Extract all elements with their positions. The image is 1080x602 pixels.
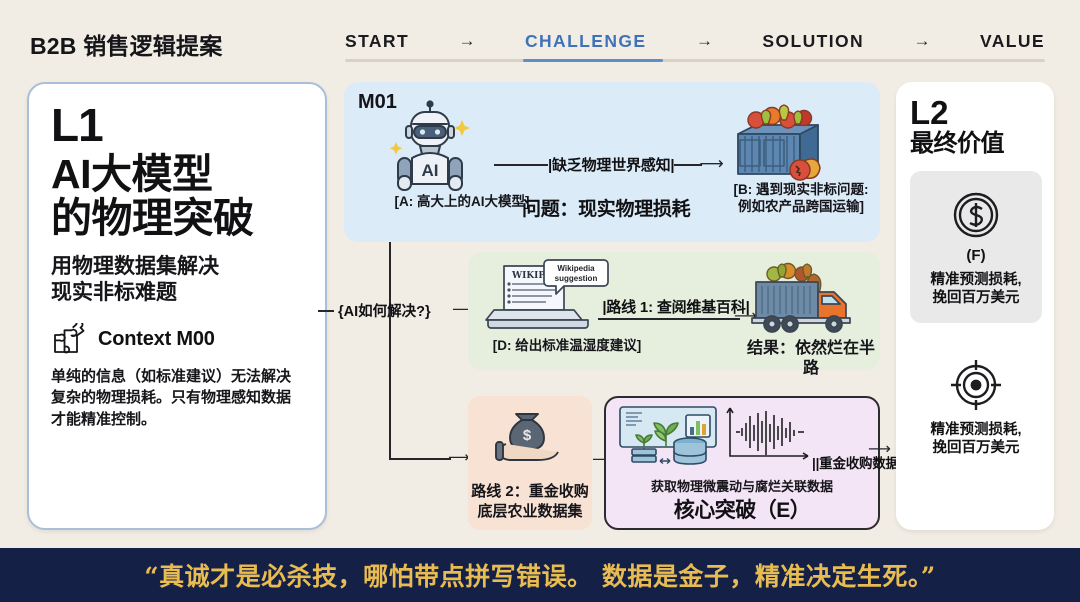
l1-subheading-line1: 用物理数据集解决	[51, 254, 303, 280]
arrow-right-icon: ⟶	[448, 450, 470, 465]
value-card-f-line1: 精准预测损耗,	[930, 271, 1021, 289]
value-card-target: 精准预测损耗, 挽回百万美元	[910, 331, 1042, 481]
step-challenge[interactable]: CHALLENGE	[525, 31, 647, 52]
puzzle-icon	[51, 323, 89, 357]
l1-heading-line1: AI大模型	[51, 152, 303, 196]
branch-stub-left	[318, 310, 334, 312]
step-arrow-icon: →	[459, 31, 476, 51]
svg-text:$: $	[523, 427, 532, 444]
value-card-f-code: (F)	[966, 247, 985, 264]
rotten-fruit-truck-icon	[746, 258, 876, 336]
l2-heading: 最终价值	[910, 131, 1042, 157]
node-a-caption: [A: 高大上的AI大模型]	[382, 194, 542, 211]
core-subtitle: 获取物理微震动与腐烂关联数据	[606, 476, 878, 495]
l1-subheading-line2: 现实非标难题	[51, 280, 303, 306]
m01-edge: |缺乏物理世界感知| ⟶	[494, 154, 724, 175]
right-value-card: L2 最终价值 (F) 精准预测损耗, 挽回百万美元	[896, 82, 1054, 530]
core-edge-label: ||重金收购数据||	[812, 452, 906, 472]
value-card-f-line2: 挽回百万美元	[930, 289, 1021, 307]
plant-data-dashboard-icon	[614, 405, 724, 469]
m01-edge-label: |缺乏物理世界感知|	[548, 154, 674, 175]
progress-indicator	[523, 59, 663, 62]
route1-edge-label: |路线 1: 查阅维基百科|	[602, 299, 749, 316]
waveform-chart-icon	[724, 406, 816, 464]
step-solution[interactable]: SOLUTION	[762, 31, 864, 52]
node-b-real-world: [B: 遇到现实非标问题: 例如农产品跨国运输]	[726, 94, 876, 216]
svg-text:Wikipedia: Wikipedia	[557, 264, 595, 273]
svg-text:AI: AI	[422, 161, 439, 180]
route2-caption-line1: 路线 2：重金收购	[471, 482, 589, 502]
footer-banner: “真诚才是必杀技，哪怕带点拼写错误。 数据是金子，精准决定生死。”	[0, 548, 1080, 602]
target-crosshair-icon	[947, 356, 1005, 414]
dollar-coin-icon	[948, 187, 1004, 243]
node-c-truck: 结果：依然烂在半路	[746, 258, 876, 379]
progress-steps: START → CHALLENGE → SOLUTION → VALUE	[345, 26, 1045, 56]
core-breakthrough-panel: ||重金收购数据|| 获取物理微震动与腐烂关联数据 核心突破（E）	[604, 396, 880, 530]
money-bag-hand-icon: $	[492, 410, 568, 472]
l1-body-text: 单纯的信息（如标准建议）无法解决复杂的物理损耗。只有物理感知数据才能精准控制。	[51, 366, 303, 431]
node-b-caption: [B: 遇到现实非标问题: 例如农产品跨国运输]	[726, 182, 876, 216]
branch-question-label: {AI如何解决?}	[338, 300, 431, 321]
core-title: 核心突破（E）	[606, 494, 878, 524]
step-start[interactable]: START	[345, 31, 409, 52]
branch-line-to-route2	[389, 458, 451, 460]
page-title: B2B 销售逻辑提案	[30, 27, 222, 61]
ai-robot-icon: AI	[382, 98, 542, 194]
context-row: Context M00	[51, 323, 303, 357]
svg-text:suggestion: suggestion	[555, 274, 598, 283]
route1-panel: WIKIPEDIA Wikipedia suggestion [D: 给出标准温…	[468, 252, 880, 370]
step-arrow-icon: →	[914, 31, 931, 51]
route1-edge-line	[598, 318, 740, 320]
banner-quote: “真诚才是必杀技，哪怕带点拼写错误。 数据是金子，精准决定生死。”	[144, 557, 935, 593]
left-overview-card: L1 AI大模型 的物理突破 用物理数据集解决 现实非标难题 Context M…	[27, 82, 327, 530]
l1-eyebrow: L1	[51, 104, 303, 148]
value-card-target-line2: 挽回百万美元	[930, 439, 1021, 457]
value-card-f: (F) 精准预测损耗, 挽回百万美元	[910, 171, 1042, 323]
context-label: Context M00	[98, 328, 215, 351]
node-c-caption: 结果：依然烂在半路	[746, 339, 876, 379]
progress-track	[345, 59, 1045, 62]
fruit-container-icon	[726, 94, 876, 182]
arrow-right-icon: ⟶	[868, 442, 891, 458]
route1-edge: |路线 1: 查阅维基百科|	[596, 296, 756, 317]
arrow-right-icon: ⟶	[699, 155, 723, 172]
m01-challenge-panel: M01	[344, 82, 880, 242]
l2-eyebrow: L2	[910, 96, 1042, 129]
value-card-target-line1: 精准预测损耗,	[930, 421, 1021, 439]
l1-heading-line2: 的物理突破	[51, 196, 303, 240]
step-arrow-icon: →	[696, 31, 713, 51]
slide-canvas: B2B 销售逻辑提案 START → CHALLENGE → SOLUTION …	[0, 0, 1080, 602]
step-value[interactable]: VALUE	[980, 31, 1045, 52]
route2-panel: $ 路线 2：重金收购 底层农业数据集	[468, 396, 592, 530]
node-d-caption: [D: 给出标准温湿度建议]	[482, 338, 652, 355]
branch-line-vertical-bottom	[389, 310, 391, 459]
m01-problem-caption: 问题：现实物理损耗	[522, 194, 690, 221]
route2-caption-line2: 底层农业数据集	[471, 502, 589, 522]
